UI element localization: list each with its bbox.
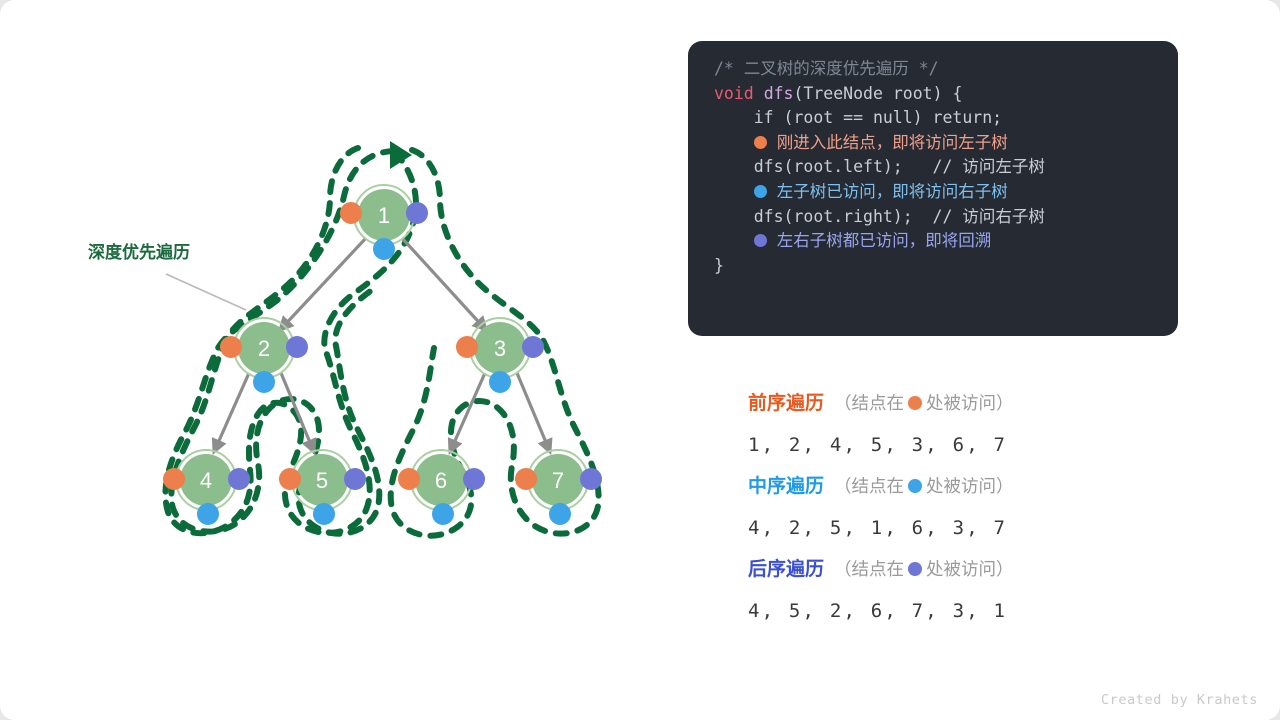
- pre-order-marker: [279, 468, 301, 490]
- binary-tree-diagram: 1 2 3: [0, 0, 680, 620]
- pre-order-marker: [456, 336, 478, 358]
- node-label: 7: [552, 468, 564, 493]
- pre-order-marker: [163, 468, 185, 490]
- postorder-sequence: 4, 5, 2, 6, 7, 3, 1: [748, 588, 1178, 634]
- edge-3-7: [517, 373, 550, 452]
- pre-order-marker-icon: [754, 136, 767, 149]
- node-label: 4: [200, 468, 212, 493]
- tree-node-7[interactable]: 7: [515, 450, 602, 525]
- node-label: 5: [316, 468, 328, 493]
- preorder-heading: 前序遍历（结点在处被访问）: [748, 385, 1178, 422]
- in-order-marker: [432, 503, 454, 525]
- code-signature-rest: (TreeNode root) {: [794, 84, 963, 103]
- inorder-paren-close: 处被访问）: [926, 476, 1014, 496]
- pre-order-marker: [220, 336, 242, 358]
- preorder-sequence: 1, 2, 4, 5, 3, 6, 7: [748, 422, 1178, 468]
- post-order-marker: [344, 468, 366, 490]
- inorder-sequence: 4, 2, 5, 1, 6, 3, 7: [748, 505, 1178, 551]
- node-label: 1: [378, 203, 390, 228]
- inorder-paren-open: （结点在: [834, 476, 904, 496]
- post-order-marker: [522, 336, 544, 358]
- post-order-marker: [228, 468, 250, 490]
- traversal-results: 前序遍历（结点在处被访问） 1, 2, 4, 5, 3, 6, 7 中序遍历（结…: [748, 385, 1178, 634]
- dfs-caption: 深度优先遍历: [88, 242, 190, 262]
- code-keyword-void: void: [714, 84, 754, 103]
- node-label: 2: [258, 336, 270, 361]
- illustration-canvas: 1 2 3: [0, 0, 1280, 720]
- in-order-marker: [313, 503, 335, 525]
- edge-2-4: [214, 373, 249, 452]
- code-note-preorder: 刚进入此结点，即将访问左子树: [777, 133, 1008, 152]
- pre-order-marker-icon: [908, 396, 922, 410]
- code-note-postorder: 左右子树都已访问，即将回溯: [777, 231, 992, 250]
- in-order-marker: [549, 503, 571, 525]
- postorder-paren-open: （结点在: [834, 559, 904, 579]
- code-closing-brace: }: [714, 256, 724, 275]
- code-block: /* 二叉树的深度优先遍历 */ void dfs(TreeNode root)…: [688, 41, 1178, 336]
- postorder-title: 后序遍历: [748, 559, 824, 580]
- node-label: 3: [494, 336, 506, 361]
- postorder-paren-close: 处被访问）: [926, 559, 1014, 579]
- code-call-right: dfs(root.right); // 访问右子树: [714, 207, 1045, 226]
- post-order-marker: [406, 202, 428, 224]
- in-order-marker: [373, 238, 395, 260]
- post-order-marker-icon: [754, 234, 767, 247]
- post-order-marker: [463, 468, 485, 490]
- tree-nodes: 1 2 3: [163, 185, 602, 525]
- in-order-marker-icon: [754, 185, 767, 198]
- post-order-marker: [580, 468, 602, 490]
- code-null-guard: if (root == null) return;: [714, 108, 1002, 127]
- in-order-marker: [197, 503, 219, 525]
- preorder-paren-close: 处被访问）: [926, 393, 1014, 413]
- pre-order-marker: [398, 468, 420, 490]
- in-order-marker-icon: [908, 479, 922, 493]
- post-order-marker-icon: [908, 562, 922, 576]
- preorder-title: 前序遍历: [748, 393, 824, 414]
- post-order-marker: [286, 336, 308, 358]
- in-order-marker: [253, 371, 275, 393]
- postorder-heading: 后序遍历（结点在处被访问）: [748, 551, 1178, 588]
- node-label: 6: [435, 468, 447, 493]
- code-call-left: dfs(root.left); // 访问左子树: [714, 157, 1045, 176]
- caption-leader-line: [166, 274, 246, 310]
- credit-text: Created by Krahets: [1101, 692, 1258, 708]
- tree-node-6[interactable]: 6: [398, 450, 485, 525]
- code-note-inorder: 左子树已访问，即将访问右子树: [777, 182, 1008, 201]
- pre-order-marker: [515, 468, 537, 490]
- inorder-title: 中序遍历: [748, 476, 824, 497]
- edge-1-3: [402, 238, 486, 330]
- tree-node-3[interactable]: 3: [456, 318, 544, 393]
- play-triangle-icon: [390, 141, 412, 169]
- inorder-heading: 中序遍历（结点在处被访问）: [748, 468, 1178, 505]
- code-function-name: dfs: [764, 84, 794, 103]
- preorder-paren-open: （结点在: [834, 393, 904, 413]
- in-order-marker: [489, 371, 511, 393]
- code-comment: /* 二叉树的深度优先遍历 */: [714, 59, 939, 78]
- pre-order-marker: [340, 202, 362, 224]
